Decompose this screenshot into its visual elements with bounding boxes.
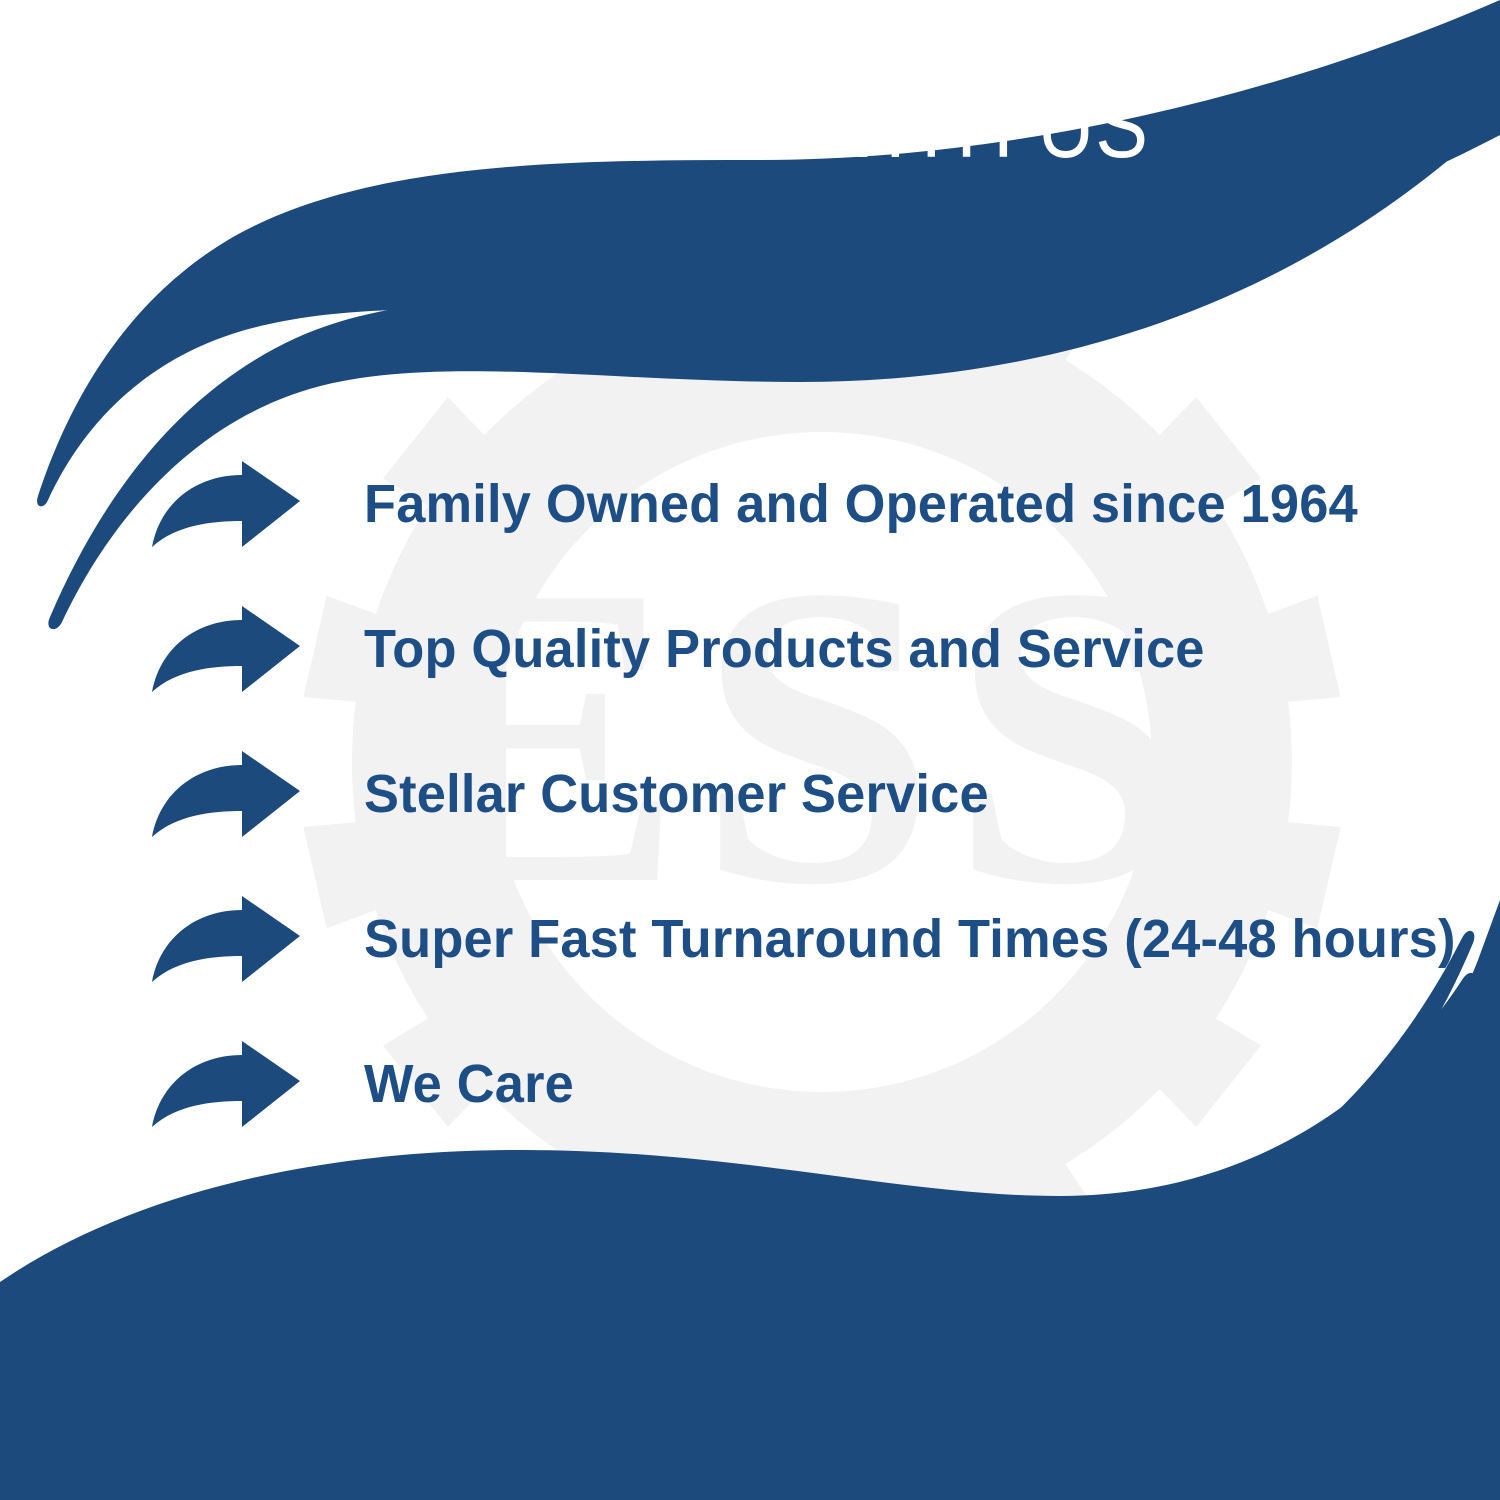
list-item: Family Owned and Operated since 1964	[150, 432, 1450, 577]
list-item: We Care	[150, 1012, 1450, 1157]
list-item: Super Fast Turnaround Times (24-48 hours…	[150, 867, 1450, 1012]
curved-arrow-right-icon	[150, 894, 302, 986]
list-item-label: Stellar Customer Service	[364, 765, 1417, 824]
list-item-label: Family Owned and Operated since 1964	[364, 475, 1417, 534]
curved-arrow-right-icon	[150, 604, 302, 696]
list-item: Stellar Customer Service	[150, 722, 1450, 867]
page-title: WHY SHOP WITH US	[105, 78, 1395, 175]
list-item-label: We Care	[364, 1055, 1417, 1114]
curved-arrow-right-icon	[150, 459, 302, 551]
promo-graphic: ESS WHY SHOP WITH US	[0, 0, 1500, 1500]
curved-arrow-right-icon	[150, 1039, 302, 1131]
list-item-label: Top Quality Products and Service	[364, 620, 1417, 679]
content-layer: WHY SHOP WITH US Family Owned and Operat…	[0, 0, 1500, 1500]
benefit-list: Family Owned and Operated since 1964 Top…	[150, 432, 1450, 1157]
curved-arrow-right-icon	[150, 749, 302, 841]
list-item: Top Quality Products and Service	[150, 577, 1450, 722]
list-item-label: Super Fast Turnaround Times (24-48 hours…	[364, 910, 1456, 969]
